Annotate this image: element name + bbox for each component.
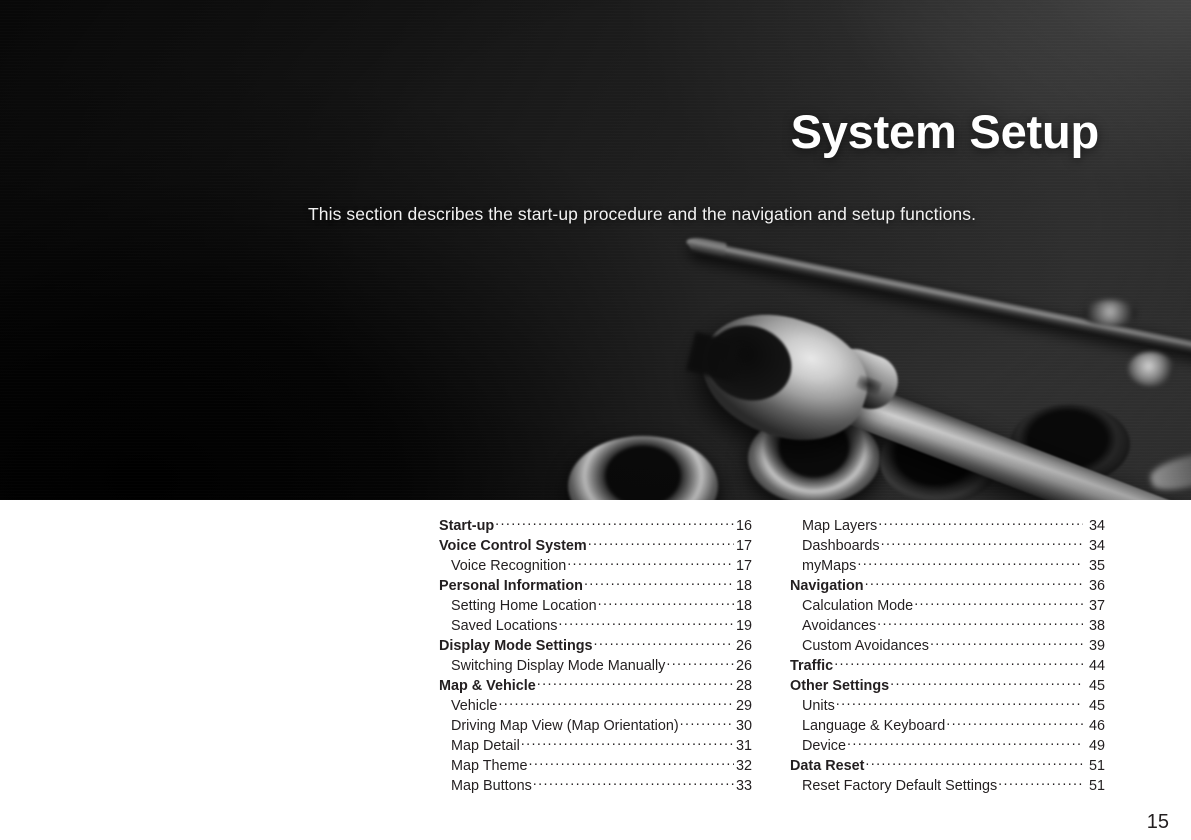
- toc-entry-page: 35: [1088, 556, 1105, 576]
- toc-entry-page: 32: [735, 756, 752, 776]
- toc-dot-leader: [666, 656, 734, 670]
- toc-entry-label: Traffic: [790, 656, 833, 676]
- toc-entry[interactable]: myMaps35: [790, 556, 1105, 576]
- toc-entry-label: Display Mode Settings: [439, 636, 593, 656]
- toc-dot-leader: [914, 596, 1083, 610]
- toc-entry-label: Vehicle: [451, 696, 497, 716]
- toc-entry-page: 17: [735, 536, 752, 556]
- toc-entry-label: Start-up: [439, 516, 494, 536]
- toc-dot-leader: [946, 716, 1083, 730]
- toc-entry-page: 18: [735, 576, 752, 596]
- toc-entry-page: 45: [1088, 676, 1105, 696]
- toc-dot-leader: [498, 696, 734, 710]
- toc-entry-page: 26: [735, 636, 752, 656]
- toc-entry-label: Calculation Mode: [802, 596, 913, 616]
- toc-dot-leader: [537, 676, 734, 690]
- toc-entry[interactable]: Other Settings45: [790, 676, 1105, 696]
- toc-entry-page: 39: [1088, 636, 1105, 656]
- toc-entry-label: Language & Keyboard: [802, 716, 945, 736]
- toc-entry[interactable]: Map Layers34: [790, 516, 1105, 536]
- toc-entry-label: Data Reset: [790, 756, 864, 776]
- toc-dot-leader: [998, 776, 1083, 790]
- toc-entry-label: Voice Recognition: [451, 556, 566, 576]
- toc-entry[interactable]: Traffic44: [790, 656, 1105, 676]
- toc-dot-leader: [533, 776, 734, 790]
- toc-dot-leader: [594, 636, 734, 650]
- toc-entry-page: 36: [1088, 576, 1105, 596]
- toc-entry[interactable]: Start-up16: [439, 516, 752, 536]
- toc-column-right: Map Layers34Dashboards34myMaps35Navigati…: [790, 516, 1105, 796]
- toc-entry-page: 33: [735, 776, 752, 796]
- toc-entry[interactable]: Reset Factory Default Settings51: [790, 776, 1105, 796]
- toc-entry[interactable]: Switching Display Mode Manually26: [439, 656, 752, 676]
- toc-entry-label: Map & Vehicle: [439, 676, 536, 696]
- toc-entry-page: 37: [1088, 596, 1105, 616]
- toc-entry[interactable]: Navigation36: [790, 576, 1105, 596]
- page-number: 15: [1147, 812, 1169, 832]
- toc-entry-label: Voice Control System: [439, 536, 587, 556]
- toc-entry[interactable]: Device49: [790, 736, 1105, 756]
- toc-entry-label: Avoidances: [802, 616, 876, 636]
- hero-vignette: [0, 0, 1191, 500]
- toc-entry-page: 34: [1088, 536, 1105, 556]
- toc-entry[interactable]: Units45: [790, 696, 1105, 716]
- toc-entry[interactable]: Map Buttons33: [439, 776, 752, 796]
- hero-banner: System Setup This section describes the …: [0, 0, 1191, 500]
- toc-dot-leader: [529, 756, 734, 770]
- toc-dot-leader: [865, 576, 1083, 590]
- toc-entry-label: myMaps: [802, 556, 856, 576]
- toc-entry[interactable]: Dashboards34: [790, 536, 1105, 556]
- toc-entry[interactable]: Personal Information18: [439, 576, 752, 596]
- toc-entry-label: Other Settings: [790, 676, 889, 696]
- toc-entry-page: 31: [735, 736, 752, 756]
- toc-entry[interactable]: Custom Avoidances39: [790, 636, 1105, 656]
- toc-entry-page: 45: [1088, 696, 1105, 716]
- toc-entry[interactable]: Map Detail31: [439, 736, 752, 756]
- toc-entry[interactable]: Calculation Mode37: [790, 596, 1105, 616]
- toc-entry-label: Map Theme: [451, 756, 528, 776]
- toc-entry-label: Custom Avoidances: [802, 636, 929, 656]
- toc-entry-page: 17: [735, 556, 752, 576]
- toc-dot-leader: [584, 576, 734, 590]
- toc-entry-label: Map Layers: [802, 516, 877, 536]
- toc-entry-label: Units: [802, 696, 835, 716]
- table-of-contents: Start-up16Voice Control System17Voice Re…: [0, 500, 1191, 840]
- toc-dot-leader: [878, 516, 1083, 530]
- toc-entry-page: 49: [1088, 736, 1105, 756]
- toc-entry[interactable]: Voice Control System17: [439, 536, 752, 556]
- toc-entry-page: 19: [735, 616, 752, 636]
- toc-dot-leader: [930, 636, 1083, 650]
- toc-entry-page: 38: [1088, 616, 1105, 636]
- toc-entry-label: Setting Home Location: [451, 596, 597, 616]
- toc-entry-label: Dashboards: [802, 536, 880, 556]
- toc-entry-label: Reset Factory Default Settings: [802, 776, 997, 796]
- toc-entry-label: Map Detail: [451, 736, 520, 756]
- toc-entry[interactable]: Setting Home Location18: [439, 596, 752, 616]
- toc-dot-leader: [598, 596, 734, 610]
- toc-entry[interactable]: Language & Keyboard46: [790, 716, 1105, 736]
- toc-entry[interactable]: Map & Vehicle28: [439, 676, 752, 696]
- toc-entry-label: Device: [802, 736, 846, 756]
- toc-dot-leader: [521, 736, 734, 750]
- toc-entry[interactable]: Driving Map View (Map Orientation)30: [439, 716, 752, 736]
- toc-dot-leader: [834, 656, 1083, 670]
- toc-entry-page: 29: [735, 696, 752, 716]
- toc-dot-leader: [588, 536, 734, 550]
- toc-dot-leader: [558, 616, 734, 630]
- toc-dot-leader: [495, 516, 734, 530]
- toc-entry[interactable]: Voice Recognition17: [439, 556, 752, 576]
- toc-dot-leader: [567, 556, 734, 570]
- toc-entry-page: 51: [1088, 756, 1105, 776]
- toc-entry[interactable]: Vehicle29: [439, 696, 752, 716]
- toc-entry-label: Navigation: [790, 576, 864, 596]
- toc-entry[interactable]: Data Reset51: [790, 756, 1105, 776]
- toc-dot-leader: [877, 616, 1083, 630]
- toc-entry-page: 30: [735, 716, 752, 736]
- toc-entry-label: Map Buttons: [451, 776, 532, 796]
- toc-entry-label: Switching Display Mode Manually: [451, 656, 665, 676]
- toc-column-left: Start-up16Voice Control System17Voice Re…: [439, 516, 752, 796]
- toc-entry-label: Driving Map View (Map Orientation): [451, 716, 679, 736]
- toc-entry-page: 46: [1088, 716, 1105, 736]
- toc-entry[interactable]: Saved Locations19: [439, 616, 752, 636]
- toc-dot-leader: [836, 696, 1083, 710]
- toc-dot-leader: [857, 556, 1083, 570]
- toc-entry-page: 34: [1088, 516, 1105, 536]
- toc-dot-leader: [847, 736, 1083, 750]
- toc-entry-page: 44: [1088, 656, 1105, 676]
- page-subtitle: This section describes the start-up proc…: [308, 204, 976, 225]
- toc-dot-leader: [680, 716, 734, 730]
- toc-dot-leader: [881, 536, 1083, 550]
- toc-entry[interactable]: Avoidances38: [790, 616, 1105, 636]
- toc-entry[interactable]: Display Mode Settings26: [439, 636, 752, 656]
- toc-entry-label: Personal Information: [439, 576, 583, 596]
- toc-entry[interactable]: Map Theme32: [439, 756, 752, 776]
- toc-entry-page: 28: [735, 676, 752, 696]
- toc-entry-label: Saved Locations: [451, 616, 557, 636]
- toc-dot-leader: [890, 676, 1083, 690]
- toc-entry-page: 18: [735, 596, 752, 616]
- toc-entry-page: 26: [735, 656, 752, 676]
- page-title: System Setup: [791, 104, 1099, 159]
- toc-entry-page: 16: [735, 516, 752, 536]
- toc-dot-leader: [865, 756, 1083, 770]
- toc-entry-page: 51: [1088, 776, 1105, 796]
